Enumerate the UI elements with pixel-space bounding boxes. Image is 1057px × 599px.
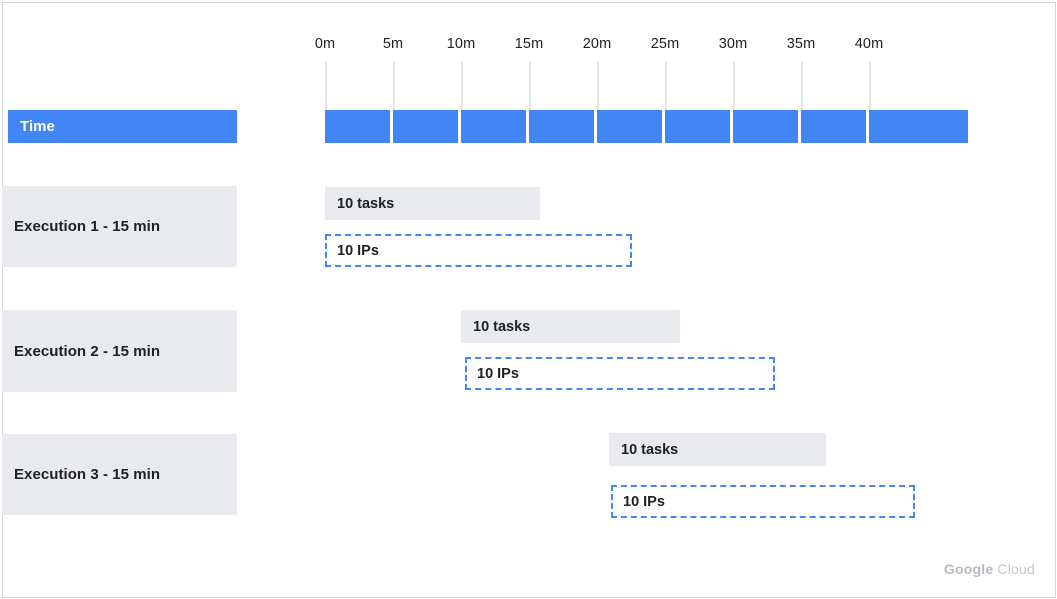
time-bar-segment	[665, 110, 730, 143]
axis-tick-mark	[665, 62, 667, 110]
google-cloud-watermark: Google Cloud	[944, 561, 1035, 577]
tasks-bar: 10 tasks	[325, 187, 540, 220]
tasks-bar-text: 10 tasks	[473, 319, 530, 335]
slide-border-bottom	[2, 597, 1055, 598]
ips-box-text: 10 IPs	[623, 494, 665, 510]
axis-tick-mark	[461, 62, 463, 110]
slide-canvas: 0m5m10m15m20m25m30m35m40m Time Execution…	[0, 0, 1057, 599]
axis-tick-mark	[325, 62, 327, 110]
time-bar-segment	[325, 110, 390, 143]
google-cloud-brand-secondary: Cloud	[997, 561, 1035, 577]
time-row-label-text: Time	[20, 118, 55, 135]
time-bar-segment	[733, 110, 798, 143]
axis-tick-label: 40m	[839, 36, 899, 52]
ips-box: 10 IPs	[325, 234, 632, 267]
slide-border-right	[1055, 2, 1056, 598]
time-row-label: Time	[8, 110, 237, 143]
axis-tick-label: 10m	[431, 36, 491, 52]
ips-box: 10 IPs	[611, 485, 915, 518]
ips-box: 10 IPs	[465, 357, 775, 390]
axis-tick-mark	[801, 62, 803, 110]
google-cloud-brand-primary: Google	[944, 561, 993, 577]
axis-tick-label: 5m	[363, 36, 423, 52]
ips-box-text: 10 IPs	[337, 243, 379, 259]
axis-tick-label: 15m	[499, 36, 559, 52]
execution-row-label: Execution 3 - 15 min	[2, 434, 237, 515]
axis-tick-label: 20m	[567, 36, 627, 52]
execution-row-label-text: Execution 2 - 15 min	[14, 343, 160, 360]
axis-tick-mark	[529, 62, 531, 110]
ips-box-text: 10 IPs	[477, 366, 519, 382]
axis-tick-label: 35m	[771, 36, 831, 52]
axis-tick-label: 30m	[703, 36, 763, 52]
execution-row-label: Execution 1 - 15 min	[2, 186, 237, 267]
tasks-bar-text: 10 tasks	[337, 196, 394, 212]
tasks-bar: 10 tasks	[461, 310, 680, 343]
time-bar-segment	[461, 110, 526, 143]
time-bar-segment	[869, 110, 968, 143]
axis-tick-mark	[597, 62, 599, 110]
time-bar-segment	[529, 110, 594, 143]
tasks-bar: 10 tasks	[609, 433, 826, 466]
time-bar-segment	[393, 110, 458, 143]
slide-border-top	[2, 2, 1055, 3]
axis-tick-mark	[733, 62, 735, 110]
axis-tick-label: 25m	[635, 36, 695, 52]
execution-row-label-text: Execution 1 - 15 min	[14, 218, 160, 235]
axis-tick-mark	[393, 62, 395, 110]
axis-tick-label: 0m	[295, 36, 355, 52]
axis-tick-mark	[869, 62, 871, 110]
time-bar-segment	[597, 110, 662, 143]
time-bar-segment	[801, 110, 866, 143]
tasks-bar-text: 10 tasks	[621, 442, 678, 458]
execution-row-label-text: Execution 3 - 15 min	[14, 466, 160, 483]
execution-row-label: Execution 2 - 15 min	[2, 310, 237, 392]
